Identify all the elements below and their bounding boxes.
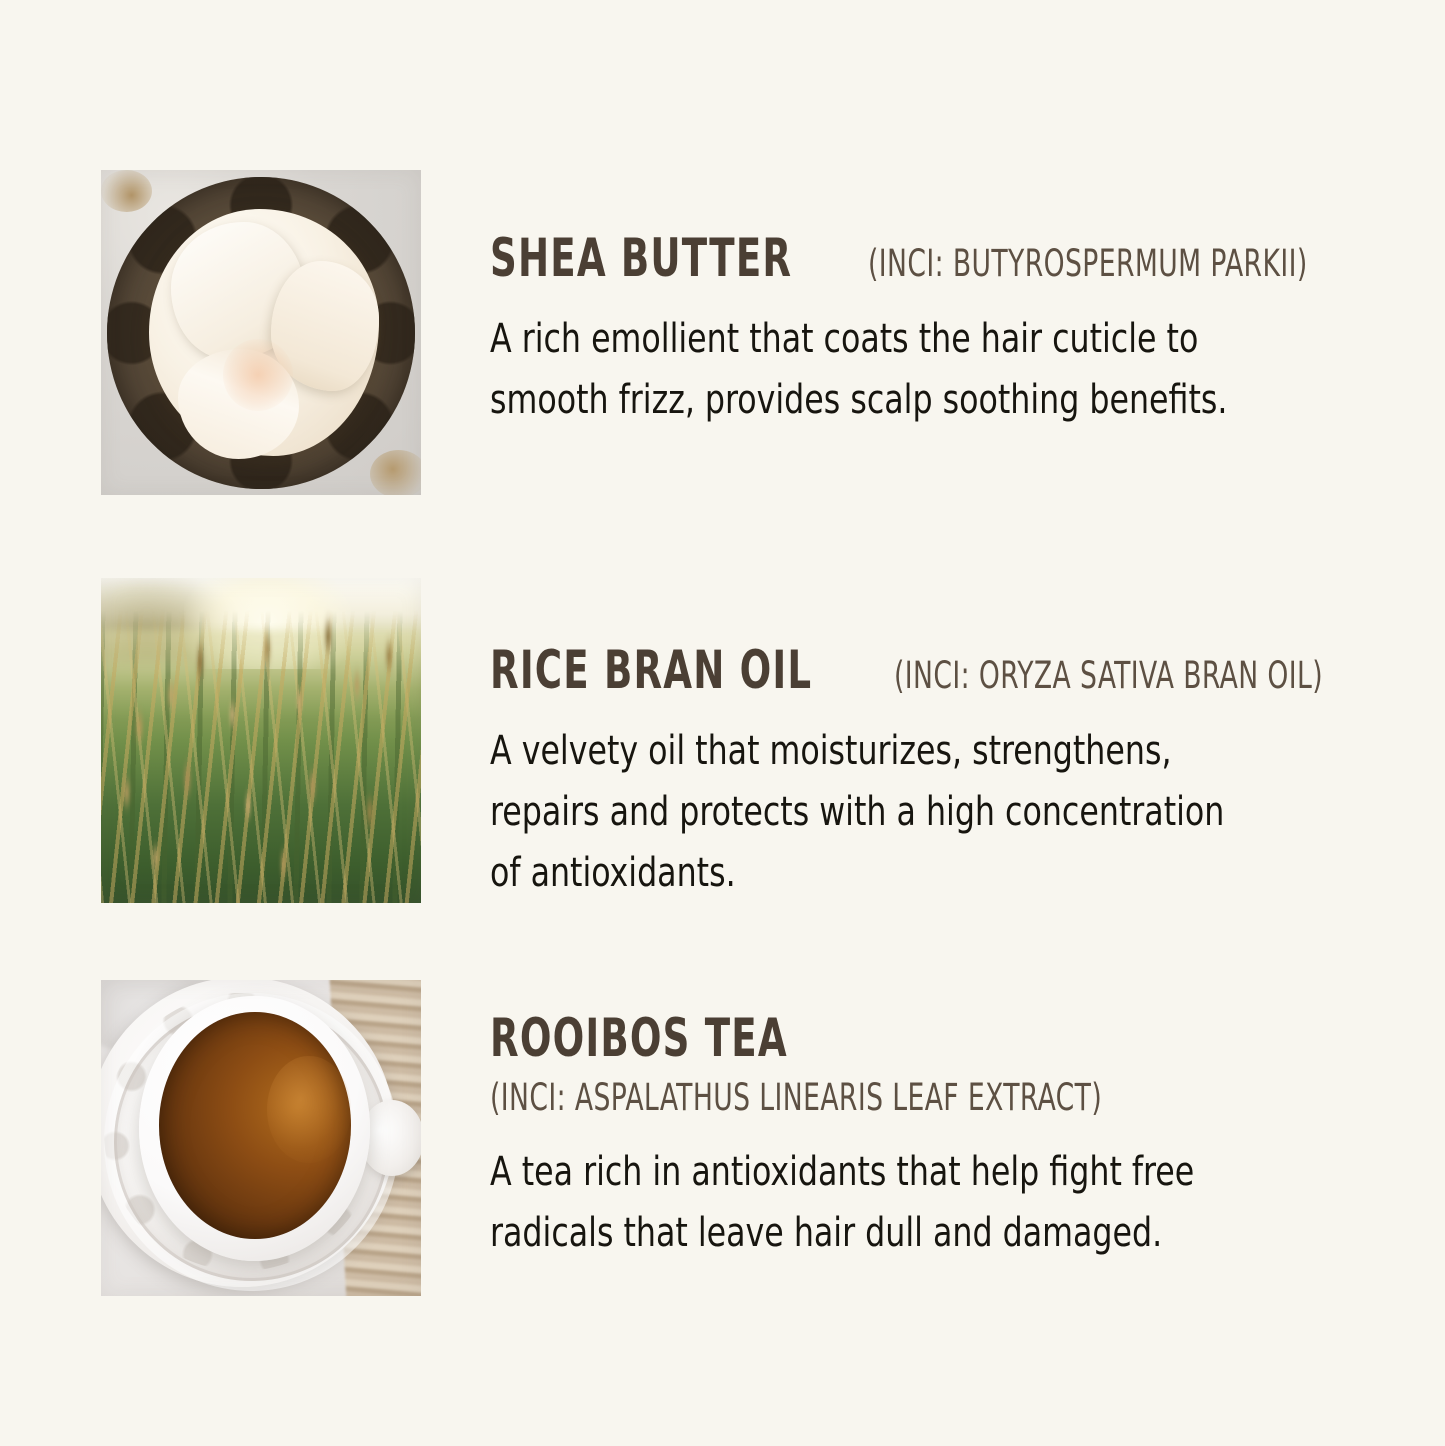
shea-butter-photo-artwork (101, 170, 421, 495)
rooibos-tea-photo (101, 980, 421, 1296)
rooibos-tea-heading: ROOIBOS TEA (INCI: ASPALATHUS LINEARIS L… (490, 1012, 1385, 1116)
ingredient-block-rooibos-tea: ROOIBOS TEA (INCI: ASPALATHUS LINEARIS L… (0, 980, 1445, 1300)
shea-butter-heading: SHEA BUTTER(INCI: BUTYROSPERMUM PARKII) (490, 232, 1418, 285)
photo-vignette (101, 578, 421, 903)
photo-vignette (101, 170, 421, 495)
ingredient-inci: (INCI: BUTYROSPERMUM PARKII) (868, 245, 1308, 282)
rice-bran-oil-description: A velvety oil that moisturizes, strength… (490, 721, 1247, 903)
ingredient-inci: (INCI: ASPALATHUS LINEARIS LEAF EXTRACT) (490, 1079, 1206, 1116)
ingredient-name: RICE BRAN OIL (490, 644, 812, 697)
rooibos-tea-photo-artwork (101, 980, 421, 1296)
shea-butter-text-column: SHEA BUTTER(INCI: BUTYROSPERMUM PARKII) … (490, 232, 1445, 431)
rice-bran-field-photo-artwork (101, 578, 421, 903)
ingredient-benefits-infographic: SHEA BUTTER(INCI: BUTYROSPERMUM PARKII) … (0, 0, 1445, 1446)
rice-bran-oil-heading: RICE BRAN OIL(INCI: ORYZA SATIVA BRAN OI… (490, 644, 1430, 697)
rooibos-tea-text-column: ROOIBOS TEA (INCI: ASPALATHUS LINEARIS L… (490, 1012, 1445, 1264)
rooibos-tea-description: A tea rich in antioxidants that help fig… (490, 1142, 1282, 1264)
ingredient-block-shea-butter: SHEA BUTTER(INCI: BUTYROSPERMUM PARKII) … (0, 170, 1445, 500)
shea-butter-photo (101, 170, 421, 495)
shea-butter-description: A rich emollient that coats the hair cut… (490, 309, 1247, 431)
ingredient-name: ROOIBOS TEA (490, 1012, 788, 1065)
photo-vignette (101, 980, 421, 1296)
rice-bran-oil-text-column: RICE BRAN OIL(INCI: ORYZA SATIVA BRAN OI… (490, 644, 1445, 903)
ingredient-inci: (INCI: ORYZA SATIVA BRAN OIL) (894, 657, 1323, 694)
ingredient-name: SHEA BUTTER (490, 232, 792, 285)
rice-bran-field-photo (101, 578, 421, 903)
ingredient-block-rice-bran-oil: RICE BRAN OIL(INCI: ORYZA SATIVA BRAN OI… (0, 578, 1445, 908)
